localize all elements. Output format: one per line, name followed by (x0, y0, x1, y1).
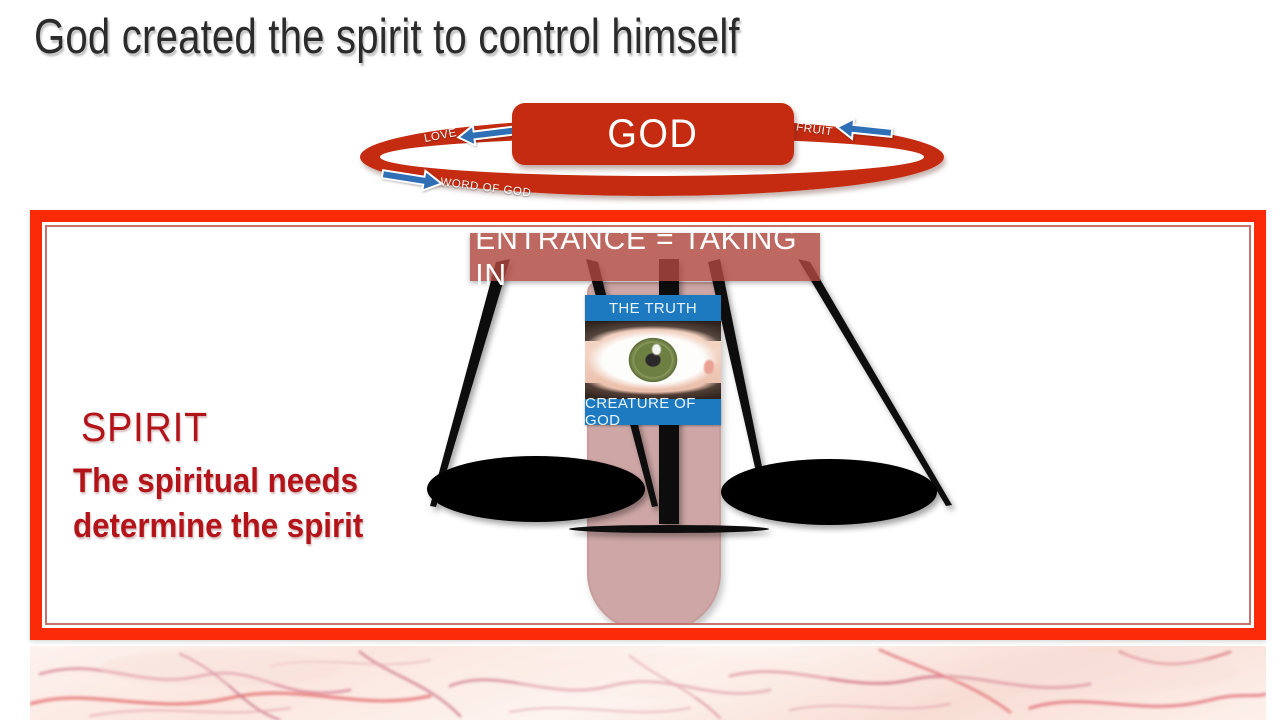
spirit-subtext: The spiritual needs determine the spirit (73, 459, 377, 549)
eye-caruncle (704, 360, 714, 374)
spirit-heading: SPIRIT (81, 404, 208, 451)
bar-the-truth: THE TRUTH (585, 295, 721, 321)
entrance-banner-label: ENTRANCE = TAKING IN (475, 221, 815, 293)
tissue-vein-texture (30, 646, 1266, 720)
slide-canvas: God created the spirit to control himsel… (0, 0, 1280, 720)
god-center-box: GOD (512, 103, 794, 165)
eye-highlight (652, 344, 661, 355)
bar-creature-of-god: CREATURE OF GOD (585, 399, 721, 425)
eye-stack: THE TRUTH CREATURE OF GOD (585, 295, 721, 425)
eyelash-top (585, 321, 721, 341)
arrow-left-icon (455, 122, 517, 146)
arrow-left-icon (834, 118, 894, 142)
entrance-banner: ENTRANCE = TAKING IN (470, 233, 820, 281)
god-center-label: GOD (608, 112, 699, 157)
page-title: God created the spirit to control himsel… (34, 6, 740, 68)
arrow-right-icon (380, 166, 446, 192)
god-cycle-diagram: LOVE FRUIT WORD OF GOD GOD (352, 100, 952, 210)
spirit-subtext-line1: The spiritual needs (73, 459, 377, 504)
spirit-subtext-line2: determine the spirit (73, 504, 377, 549)
human-eye-photo (585, 321, 721, 399)
